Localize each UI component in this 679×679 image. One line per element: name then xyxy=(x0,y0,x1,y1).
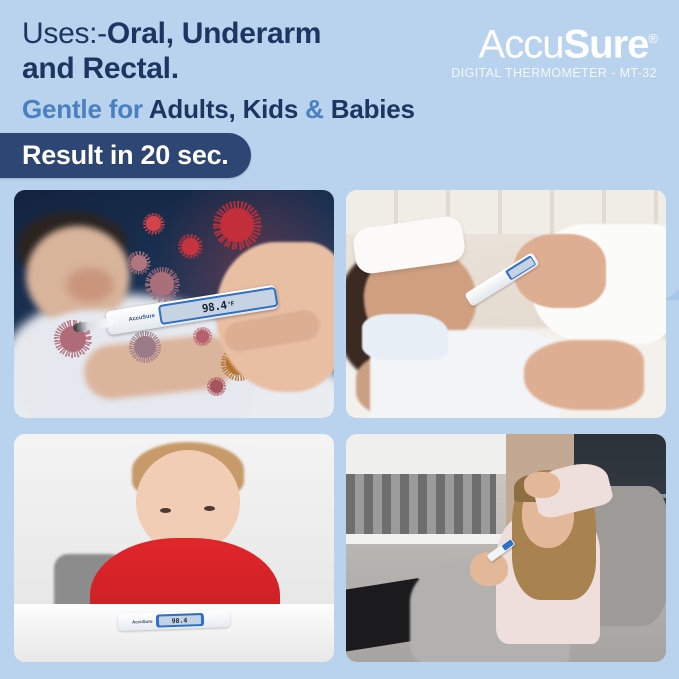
photo-3-scene: AccuSure 98.4 xyxy=(14,434,334,662)
virus-icon xyxy=(196,330,209,343)
laptop xyxy=(346,578,420,652)
mosaic-tile-backsplash xyxy=(346,474,496,536)
result-time-badge: Result in 20 sec. xyxy=(0,133,251,178)
girl-collar xyxy=(362,314,448,360)
child-cheek xyxy=(66,268,114,302)
brand-subtitle: DIGITAL THERMOMETER - MT-32 xyxy=(451,66,657,80)
virus-icon xyxy=(134,336,156,358)
uses-value-2: and Rectal. xyxy=(22,51,442,86)
photo-girl-oral-reading xyxy=(346,190,666,418)
virus-icon xyxy=(150,272,174,296)
kitchen-cabinet-upper xyxy=(346,434,506,474)
thermometer-brand-label: AccuSure xyxy=(132,619,153,625)
uses-line: Uses:-Oral, Underarm and Rectal. xyxy=(22,16,442,86)
thermometer-lcd-bezel: 98.4 xyxy=(155,613,203,628)
photo-grid: AccuSure 98.4°F xyxy=(14,190,666,669)
virus-icon xyxy=(220,208,254,242)
virus-icon xyxy=(182,238,199,255)
brand-name-bold: Sure xyxy=(563,22,648,66)
virus-icon xyxy=(146,216,161,231)
product-marketing-banner: Uses:-Oral, Underarm and Rectal. Gentle … xyxy=(0,0,679,679)
thermometer-brand-label: AccuSure xyxy=(128,313,155,323)
photo-woman-fever-sofa xyxy=(346,434,666,662)
thermometer-reading: 98.4 xyxy=(201,298,228,315)
uses-label: Uses:- xyxy=(22,17,107,50)
registered-trademark-icon: ® xyxy=(648,31,657,46)
uses-value-1: Oral, Underarm xyxy=(107,17,321,50)
brand-logo: AccuSure® DIGITAL THERMOMETER - MT-32 xyxy=(451,18,657,80)
photo-baby-red-shirt: AccuSure 98.4 xyxy=(14,434,334,662)
virus-icon xyxy=(131,255,147,271)
gentle-mid: Adults, Kids xyxy=(143,94,305,124)
virus-icon xyxy=(210,380,223,393)
gentle-line: Gentle for Adults, Kids & Babies xyxy=(22,92,442,126)
photo-4-scene xyxy=(346,434,666,662)
result-time-badge-label: Result in 20 sec. xyxy=(22,140,229,171)
photo-1-scene: AccuSure 98.4°F xyxy=(14,190,334,418)
gentle-ampersand: & xyxy=(305,94,324,124)
caregiver-hand-lower xyxy=(524,340,644,410)
thermometer-reading: 98.4 xyxy=(158,615,200,625)
gentle-prefix: Gentle for xyxy=(22,94,143,124)
woman-hand-on-forehead xyxy=(524,472,560,498)
thermometer-unit: °F xyxy=(227,300,234,308)
brand-name-light: Accu xyxy=(479,22,564,66)
baby-eye-left xyxy=(160,508,171,513)
headline-block: Uses:-Oral, Underarm and Rectal. Gentle … xyxy=(22,16,442,126)
photo-2-scene xyxy=(346,190,666,418)
baby-eye-right xyxy=(204,506,215,511)
photo-sleeping-child-virus: AccuSure 98.4°F xyxy=(14,190,334,418)
brand-logo-wordmark: AccuSure® xyxy=(451,18,657,65)
gentle-suffix: Babies xyxy=(324,94,415,124)
